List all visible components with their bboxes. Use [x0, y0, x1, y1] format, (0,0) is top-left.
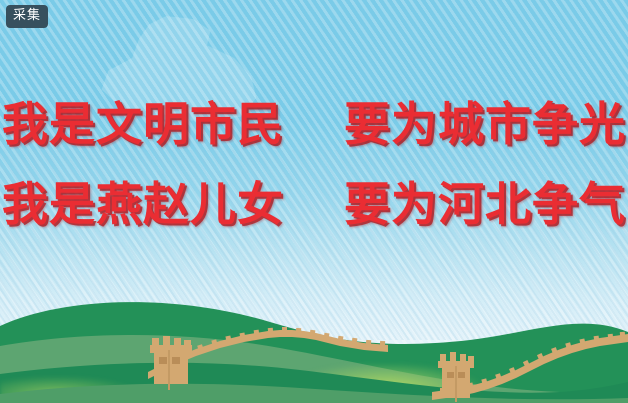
- slogan-line-1: 我是文明市民 要为城市争光: [0, 98, 628, 150]
- slogan-line-2: 我是燕赵儿女 要为河北争气: [0, 178, 628, 230]
- slogan-line-2-segment-2: 要为河北争气: [344, 177, 626, 231]
- slogan-line-1-segment-2: 要为城市争光: [344, 97, 626, 151]
- capture-badge[interactable]: 采集: [6, 5, 48, 28]
- slogan-line-2-segment-1: 我是燕赵儿女: [2, 177, 284, 231]
- poster-image: 我是文明市民 要为城市争光 我是燕赵儿女 要为河北争气 采集: [0, 0, 628, 403]
- slogan-line-1-segment-1: 我是文明市民: [2, 97, 284, 151]
